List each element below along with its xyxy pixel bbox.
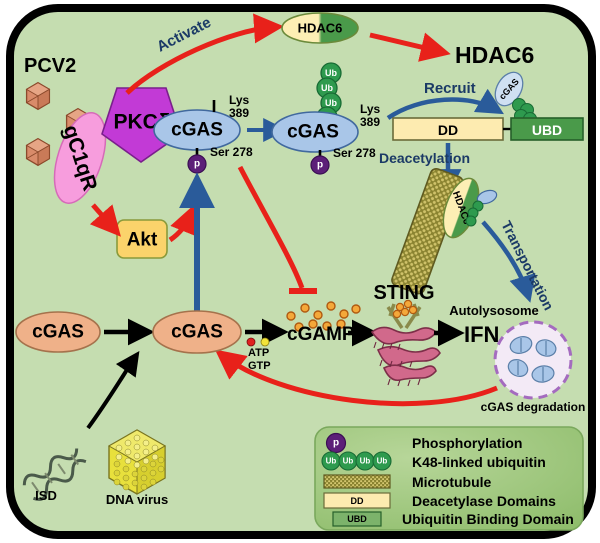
- legend-ub-4: Ub: [377, 457, 388, 466]
- gtp-dot-icon: [261, 338, 269, 346]
- akt-node[interactable]: Akt: [117, 220, 167, 258]
- lys-number-2: 389: [360, 115, 380, 129]
- legend-ub-1: Ub: [326, 457, 337, 466]
- dd-label: DD: [438, 122, 458, 138]
- cgas-ub-label: cGAS: [287, 122, 339, 143]
- legend-box: p Phosphorylation Ub Ub Ub Ub K48-linked…: [315, 427, 583, 530]
- atp-dot-icon: [247, 338, 255, 346]
- hdac6-title: HDAC6: [455, 42, 534, 68]
- ser278-label-2: Ser 278: [333, 146, 376, 160]
- legend-dd-tag: DD: [351, 496, 364, 506]
- legend-phospho-p: p: [333, 438, 339, 449]
- legend-ubd-tag: UBD: [347, 514, 367, 524]
- cgas-cytosolic-label: cGAS: [32, 322, 84, 343]
- cgas-cytosolic-node[interactable]: cGAS: [16, 312, 100, 352]
- akt-label: Akt: [127, 230, 158, 251]
- ub-letter-2: Ub: [321, 83, 333, 93]
- ub-letter-1: Ub: [325, 68, 337, 78]
- hdac6-domain-bar: DD UBD: [393, 118, 583, 140]
- cgas-activated-label: cGAS: [171, 322, 223, 343]
- legend-label-2: Microtubule: [412, 474, 492, 490]
- hdac6-ellipse-label: HDAC6: [298, 21, 343, 36]
- legend-label-1: K48-linked ubiquitin: [412, 454, 546, 470]
- cgas-activated-node[interactable]: cGAS: [153, 311, 241, 353]
- phospho-p-letter-2: p: [317, 160, 323, 171]
- lys-number-1: 389: [229, 106, 249, 120]
- dna-virus-label: DNA virus: [106, 492, 168, 507]
- isd-label: ISD: [35, 488, 57, 503]
- ubd-label: UBD: [532, 122, 562, 138]
- gtp-label: GTP: [248, 360, 271, 372]
- phospho-p-letter-1: p: [194, 159, 200, 170]
- ser278-label-1: Ser 278: [210, 145, 253, 159]
- atp-label: ATP: [248, 347, 269, 359]
- lys-label-2: Lys: [360, 102, 381, 116]
- recruit-label: Recruit: [424, 80, 476, 97]
- autolysosome-label: Autolysosome: [449, 303, 539, 318]
- figure-canvas: PCV2 gC1qR PKCδ Activa: [0, 0, 600, 543]
- legend-ub-3: Ub: [360, 457, 371, 466]
- hdac6-ellipse-node[interactable]: HDAC6: [282, 13, 358, 43]
- legend-ub-2: Ub: [343, 457, 354, 466]
- autolysosome-node[interactable]: [495, 322, 571, 398]
- legend-label-4: Ubiquitin Binding Domain: [402, 511, 574, 527]
- cgas-phospho-label: cGAS: [171, 120, 223, 141]
- legend-microtubule-icon: [324, 475, 390, 488]
- cgamp-label: cGAMP: [287, 324, 355, 345]
- lys-label-1: Lys: [229, 93, 250, 107]
- pcv2-label: PCV2: [24, 55, 76, 77]
- sting-title: STING: [373, 282, 434, 304]
- legend-label-0: Phosphorylation: [412, 435, 522, 451]
- ifn-label: IFN: [464, 322, 499, 347]
- legend-label-3: Deacetylase Domains: [412, 493, 556, 509]
- cgas-degradation-label: cGAS degradation: [481, 400, 586, 414]
- deacetylation-label: Deacetylation: [379, 150, 470, 166]
